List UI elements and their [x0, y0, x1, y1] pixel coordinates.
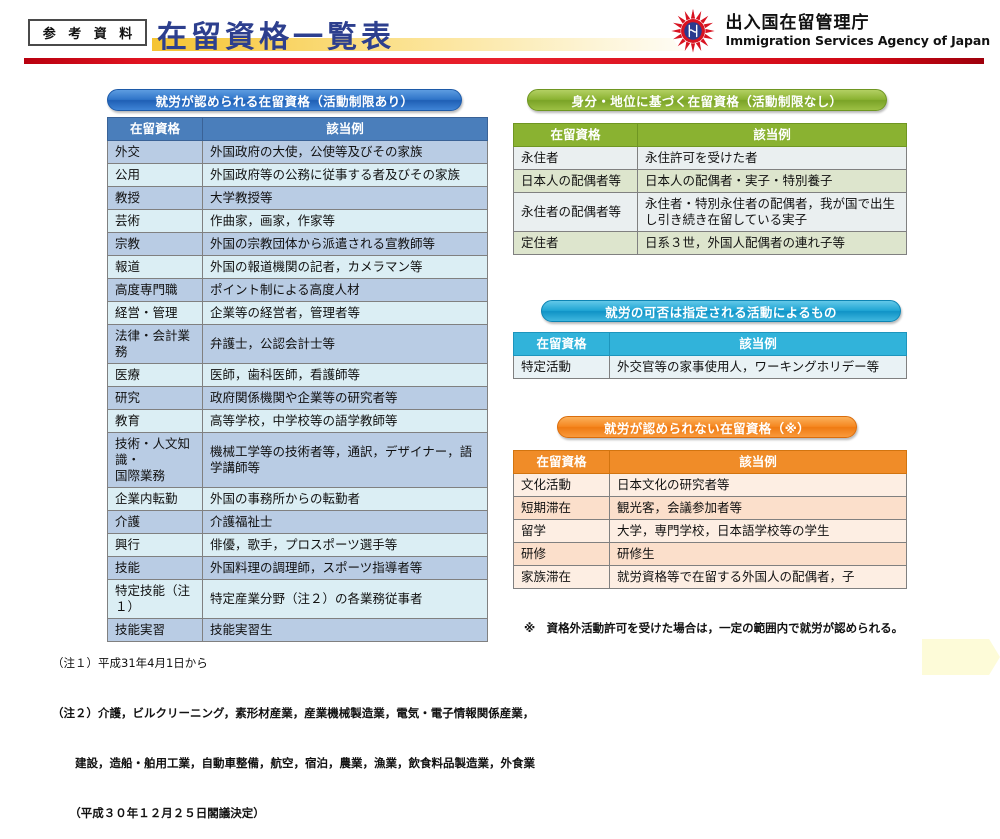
cell-example: 日系３世，外国人配偶者の連れ子等 — [638, 232, 907, 255]
cell-status: 技能 — [108, 557, 203, 580]
table-row: 医療医師，歯科医師，看護師等 — [108, 364, 488, 387]
cell-status: 永住者の配偶者等 — [514, 193, 638, 232]
table-row: 技能外国料理の調理師，スポーツ指導者等 — [108, 557, 488, 580]
cell-example: 弁護士，公認会計士等 — [203, 325, 488, 364]
agency-name-en: Immigration Services Agency of Japan — [726, 34, 990, 48]
cell-example: 外国政府の大使，公使等及びその家族 — [203, 141, 488, 164]
table-row: 経営・管理企業等の経営者，管理者等 — [108, 302, 488, 325]
cell-status: 研究 — [108, 387, 203, 410]
cell-status: 永住者 — [514, 147, 638, 170]
cell-status: 宗教 — [108, 233, 203, 256]
footnote-note2-line3: （平成３０年１２月２５日閣議決定） — [52, 805, 535, 822]
cell-example: 日本文化の研究者等 — [610, 474, 907, 497]
table-status-based: 在留資格 該当例 永住者永住許可を受けた者日本人の配偶者等日本人の配偶者・実子・… — [513, 123, 907, 255]
col-header-examples: 該当例 — [610, 451, 907, 474]
cell-status: 報道 — [108, 256, 203, 279]
table-body-work-allowed: 外交外国政府の大使，公使等及びその家族公用外国政府等の公務に従事する者及びその家… — [108, 141, 488, 642]
table-body-no-work: 文化活動日本文化の研究者等短期滞在観光客，会議参加者等留学大学，専門学校，日本語… — [514, 474, 907, 589]
table-row: 芸術作曲家，画家，作家等 — [108, 210, 488, 233]
table-row: 公用外国政府等の公務に従事する者及びその家族 — [108, 164, 488, 187]
cell-example: 医師，歯科医師，看護師等 — [203, 364, 488, 387]
footnote-note2-line1: （注２）介護，ビルクリーニング，素形材産業，産業機械製造業，電気・電子情報関係産… — [52, 705, 535, 722]
table-row: 高度専門職ポイント制による高度人材 — [108, 279, 488, 302]
table-body-designated: 特定活動外交官等の家事使用人，ワーキングホリデー等 — [514, 356, 907, 379]
table-row: 報道外国の報道機関の記者，カメラマン等 — [108, 256, 488, 279]
cell-status: 公用 — [108, 164, 203, 187]
table-row: 研修研修生 — [514, 543, 907, 566]
table-row: 研究政府関係機関や企業等の研究者等 — [108, 387, 488, 410]
table-row: 技術・人文知識・ 国際業務機械工学等の技術者等，通訳，デザイナー，語学講師等 — [108, 433, 488, 488]
footnote-right: ※ 資格外活動許可を受けた場合は，一定の範囲内で就労が認められる。 — [524, 620, 903, 637]
agency-name-jp: 出入国在留管理庁 — [726, 14, 990, 33]
cell-example: 外交官等の家事使用人，ワーキングホリデー等 — [610, 356, 907, 379]
table-header-row: 在留資格 該当例 — [108, 118, 488, 141]
table-work-allowed: 在留資格 該当例 外交外国政府の大使，公使等及びその家族公用外国政府等の公務に従… — [107, 117, 488, 642]
cell-status: 研修 — [514, 543, 610, 566]
cell-status: 外交 — [108, 141, 203, 164]
cell-status: 興行 — [108, 534, 203, 557]
table-row: 定住者日系３世，外国人配偶者の連れ子等 — [514, 232, 907, 255]
table-row: 永住者の配偶者等永住者・特別永住者の配偶者，我が国で出生し引き続き在留している実… — [514, 193, 907, 232]
cell-status: 医療 — [108, 364, 203, 387]
table-row: 教授大学教授等 — [108, 187, 488, 210]
table-header-row: 在留資格 該当例 — [514, 451, 907, 474]
table-row: 外交外国政府の大使，公使等及びその家族 — [108, 141, 488, 164]
cell-status: 法律・会計業務 — [108, 325, 203, 364]
table-row: 興行俳優，歌手，プロスポーツ選手等 — [108, 534, 488, 557]
cell-example: 就労資格等で在留する外国人の配偶者，子 — [610, 566, 907, 589]
cell-example: 永住者・特別永住者の配偶者，我が国で出生し引き続き在留している実子 — [638, 193, 907, 232]
cell-example: 永住許可を受けた者 — [638, 147, 907, 170]
cell-status: 家族滞在 — [514, 566, 610, 589]
table-row: 企業内転勤外国の事務所からの転勤者 — [108, 488, 488, 511]
cell-example: 外国料理の調理師，スポーツ指導者等 — [203, 557, 488, 580]
cell-status: 企業内転勤 — [108, 488, 203, 511]
page-title: 在留資格一覧表 — [157, 12, 395, 56]
cell-status: 教育 — [108, 410, 203, 433]
corner-decoration — [922, 639, 1000, 675]
table-designated-activities: 在留資格 該当例 特定活動外交官等の家事使用人，ワーキングホリデー等 — [513, 332, 907, 379]
page-header: 参 考 資 料 在留資格一覧表 — [0, 0, 1000, 66]
cell-example: 企業等の経営者，管理者等 — [203, 302, 488, 325]
col-header-status: 在留資格 — [514, 124, 638, 147]
table-row: 留学大学，専門学校，日本語学校等の学生 — [514, 520, 907, 543]
cell-status: 日本人の配偶者等 — [514, 170, 638, 193]
cell-status: 教授 — [108, 187, 203, 210]
cell-status: 留学 — [514, 520, 610, 543]
cell-example: 高等学校，中学校等の語学教師等 — [203, 410, 488, 433]
cell-example: 機械工学等の技術者等，通訳，デザイナー，語学講師等 — [203, 433, 488, 488]
cell-example: 研修生 — [610, 543, 907, 566]
table-row: 文化活動日本文化の研究者等 — [514, 474, 907, 497]
col-header-status: 在留資格 — [108, 118, 203, 141]
banner-work-allowed: 就労が認められる在留資格（活動制限あり） — [107, 89, 462, 111]
table-row: 法律・会計業務弁護士，公認会計士等 — [108, 325, 488, 364]
cell-status: 技術・人文知識・ 国際業務 — [108, 433, 203, 488]
table-body-status-based: 永住者永住許可を受けた者日本人の配偶者等日本人の配偶者・実子・特別養子永住者の配… — [514, 147, 907, 255]
table-row: 短期滞在観光客，会議参加者等 — [514, 497, 907, 520]
banner-work-not-allowed: 就労が認められない在留資格（※） — [557, 416, 857, 438]
agency-name-block: 出入国在留管理庁 Immigration Services Agency of … — [726, 14, 990, 47]
table-row: 教育高等学校，中学校等の語学教師等 — [108, 410, 488, 433]
table-work-not-allowed: 在留資格 該当例 文化活動日本文化の研究者等短期滞在観光客，会議参加者等留学大学… — [513, 450, 907, 589]
immigration-agency-emblem-icon — [670, 8, 716, 54]
table-row: 介護介護福祉士 — [108, 511, 488, 534]
cell-status: 芸術 — [108, 210, 203, 233]
table-row: 日本人の配偶者等日本人の配偶者・実子・特別養子 — [514, 170, 907, 193]
cell-status: 特定技能（注１） — [108, 580, 203, 619]
cell-status: 定住者 — [514, 232, 638, 255]
cell-example: 外国の宗教団体から派遣される宣教師等 — [203, 233, 488, 256]
cell-example: 日本人の配偶者・実子・特別養子 — [638, 170, 907, 193]
col-header-examples: 該当例 — [610, 333, 907, 356]
banner-status-based: 身分・地位に基づく在留資格（活動制限なし） — [527, 89, 887, 111]
table-row: 宗教外国の宗教団体から派遣される宣教師等 — [108, 233, 488, 256]
reference-badge: 参 考 資 料 — [28, 19, 147, 46]
cell-example: 観光客，会議参加者等 — [610, 497, 907, 520]
cell-example: 特定産業分野（注２）の各業務従事者 — [203, 580, 488, 619]
footnote-note1: （注１）平成31年4月1日から — [52, 655, 535, 672]
cell-example: ポイント制による高度人材 — [203, 279, 488, 302]
cell-example: 外国政府等の公務に従事する者及びその家族 — [203, 164, 488, 187]
cell-example: 外国の報道機関の記者，カメラマン等 — [203, 256, 488, 279]
col-header-examples: 該当例 — [203, 118, 488, 141]
header-red-rule — [24, 58, 984, 64]
table-row: 家族滞在就労資格等で在留する外国人の配偶者，子 — [514, 566, 907, 589]
cell-example: 俳優，歌手，プロスポーツ選手等 — [203, 534, 488, 557]
cell-example: 大学，専門学校，日本語学校等の学生 — [610, 520, 907, 543]
col-header-status: 在留資格 — [514, 333, 610, 356]
cell-example: 作曲家，画家，作家等 — [203, 210, 488, 233]
agency-identity: 出入国在留管理庁 Immigration Services Agency of … — [670, 8, 990, 54]
banner-designated-activities: 就労の可否は指定される活動によるもの — [541, 300, 901, 322]
cell-status: 経営・管理 — [108, 302, 203, 325]
footnote-note2-line2: 建設，造船・舶用工業，自動車整備，航空，宿泊，農業，漁業，飲食料品製造業，外食業 — [52, 755, 535, 772]
table-row: 特定活動外交官等の家事使用人，ワーキングホリデー等 — [514, 356, 907, 379]
footnote-left: （注１）平成31年4月1日から （注２）介護，ビルクリーニング，素形材産業，産業… — [52, 622, 535, 839]
cell-status: 文化活動 — [514, 474, 610, 497]
cell-status: 短期滞在 — [514, 497, 610, 520]
cell-example: 外国の事務所からの転勤者 — [203, 488, 488, 511]
cell-example: 大学教授等 — [203, 187, 488, 210]
col-header-status: 在留資格 — [514, 451, 610, 474]
table-row: 永住者永住許可を受けた者 — [514, 147, 907, 170]
table-row: 特定技能（注１）特定産業分野（注２）の各業務従事者 — [108, 580, 488, 619]
cell-status: 高度専門職 — [108, 279, 203, 302]
table-header-row: 在留資格 該当例 — [514, 124, 907, 147]
cell-status: 介護 — [108, 511, 203, 534]
col-header-examples: 該当例 — [638, 124, 907, 147]
cell-example: 政府関係機関や企業等の研究者等 — [203, 387, 488, 410]
cell-status: 特定活動 — [514, 356, 610, 379]
table-header-row: 在留資格 該当例 — [514, 333, 907, 356]
cell-example: 介護福祉士 — [203, 511, 488, 534]
